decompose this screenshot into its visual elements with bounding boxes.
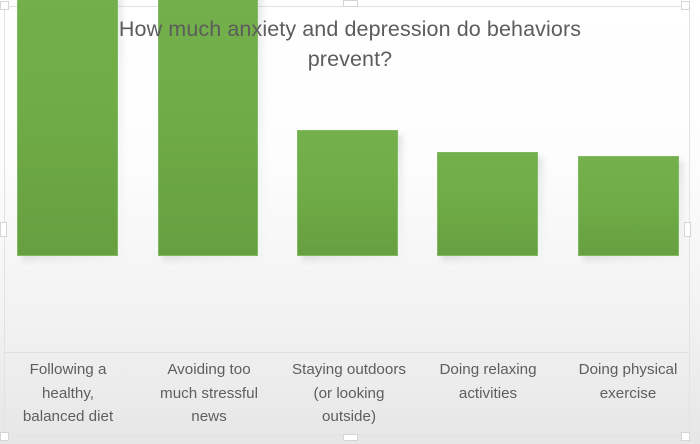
chart-title: How much anxiety and depression do behav… bbox=[60, 14, 640, 74]
category-label-3[interactable]: Doing relaxing activities bbox=[424, 358, 552, 405]
selection-handle-bottom-right[interactable] bbox=[681, 432, 690, 441]
selection-handle-bottom-center[interactable] bbox=[343, 434, 358, 441]
selection-handle-middle-right[interactable] bbox=[684, 222, 691, 237]
category-label-line: Following a bbox=[8, 358, 128, 382]
bar-series-item[interactable] bbox=[297, 130, 398, 256]
category-label-line: activities bbox=[424, 382, 552, 406]
category-label-line: exercise bbox=[565, 382, 691, 406]
category-label-line: balanced diet bbox=[8, 405, 128, 429]
category-label-line: news bbox=[146, 405, 272, 429]
category-label-0[interactable]: Following a healthy, balanced diet bbox=[8, 358, 128, 429]
bar-doing-physical-exercise[interactable] bbox=[578, 156, 679, 256]
category-label-line: Avoiding too bbox=[146, 358, 272, 382]
category-label-line: Doing relaxing bbox=[424, 358, 552, 382]
bar-series-item[interactable] bbox=[437, 152, 538, 256]
selection-handle-bottom-left[interactable] bbox=[0, 432, 9, 441]
slide-canvas: How much anxiety and depression do behav… bbox=[0, 0, 700, 444]
bar-staying-outdoors-or-looking-outside[interactable] bbox=[297, 130, 398, 256]
category-label-line: Doing physical bbox=[565, 358, 691, 382]
selection-handle-top-left[interactable] bbox=[0, 1, 9, 10]
selection-handle-top-right[interactable] bbox=[681, 1, 690, 10]
bar-series-item[interactable] bbox=[578, 156, 679, 256]
chart-title-line-1: How much anxiety and depression do behav… bbox=[60, 14, 640, 44]
category-label-4[interactable]: Doing physical exercise bbox=[565, 358, 691, 405]
category-label-line: much stressful bbox=[146, 382, 272, 406]
category-label-1[interactable]: Avoiding too much stressful news bbox=[146, 358, 272, 429]
category-label-line: (or looking bbox=[281, 382, 417, 406]
category-label-line: Staying outdoors bbox=[281, 358, 417, 382]
category-label-2[interactable]: Staying outdoors (or looking outside) bbox=[281, 358, 417, 429]
selection-handle-middle-left[interactable] bbox=[0, 222, 7, 237]
category-axis: Following a healthy, balanced diet Avoid… bbox=[0, 358, 700, 436]
bar-doing-relaxing-activities[interactable] bbox=[437, 152, 538, 256]
selection-handle-top-center[interactable] bbox=[343, 0, 358, 7]
chart-title-line-2: prevent? bbox=[60, 44, 640, 74]
category-axis-line bbox=[5, 352, 689, 353]
category-label-line: outside) bbox=[281, 405, 417, 429]
category-label-line: healthy, bbox=[8, 382, 128, 406]
